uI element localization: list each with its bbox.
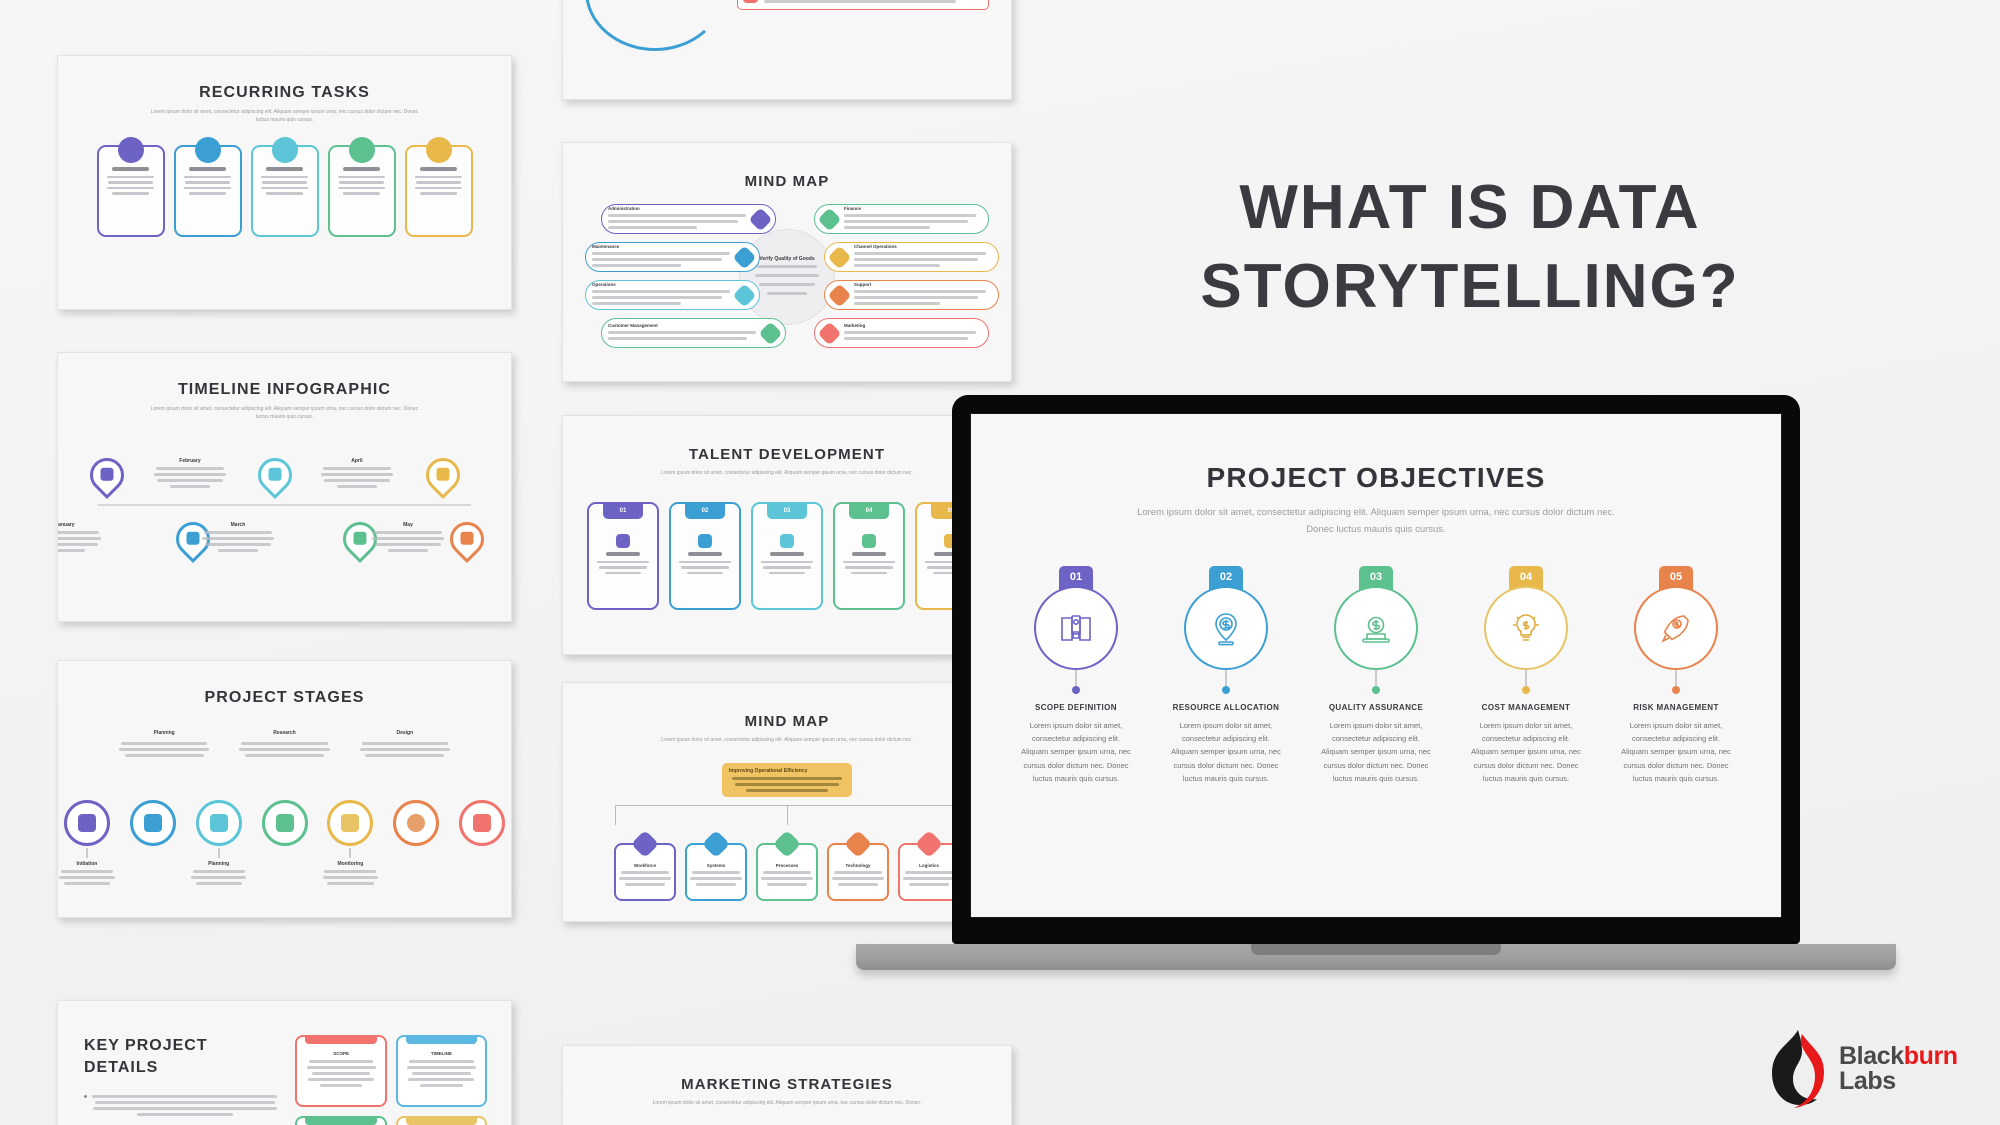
mind-map-branch[interactable]: Channel Operations: [824, 242, 999, 272]
stage-item[interactable]: [453, 800, 511, 888]
stage-item[interactable]: Initiation: [58, 800, 116, 888]
chart-icon: [862, 534, 876, 548]
task-card[interactable]: [251, 145, 319, 237]
objective-item-01[interactable]: 01 SCOPE DEFINITION Lorem ipsum dolor si…: [1012, 566, 1140, 785]
kpd-card[interactable]: TIMELINE: [396, 1035, 487, 1107]
objective-item-03[interactable]: 03 QUALITY ASSURANCE Lorem ipsum dolor s…: [1312, 566, 1440, 785]
slide-title: TALENT DEVELOPMENT: [563, 446, 1011, 463]
open-book-icon: [1034, 586, 1118, 670]
tree-node[interactable]: Systems: [685, 843, 747, 901]
objective-desc: Lorem ipsum dolor sit amet, consectetur …: [1612, 719, 1740, 785]
timeline-label-march: March: [201, 522, 275, 555]
laptop-slide-title: PROJECT OBJECTIVES: [971, 462, 1781, 494]
mind-map-branch[interactable]: Marketing: [814, 318, 989, 348]
talent-card-row: 01 02 03 04 05: [563, 502, 1011, 610]
laptop-base: [856, 944, 1896, 970]
talent-card[interactable]: 03: [751, 502, 823, 610]
slide-process-partial[interactable]: [562, 0, 1012, 100]
timeline-pin[interactable]: [419, 450, 467, 498]
laptop-screen[interactable]: PROJECT OBJECTIVES Lorem ipsum dolor sit…: [970, 413, 1782, 918]
objective-label: RISK MANAGEMENT: [1612, 703, 1740, 712]
slide-key-project-details[interactable]: KEY PROJECT DETAILS SCOPE: [57, 1000, 512, 1125]
device-icon: [195, 137, 221, 163]
stage-heading-row: Planning Research Design: [104, 721, 465, 760]
mind-map-branch[interactable]: Support: [824, 280, 999, 310]
people-icon: [426, 137, 452, 163]
tree-node[interactable]: Workforce: [614, 843, 676, 901]
mind-map-graphic: Verify Quality of Goods Administration M…: [563, 202, 1011, 352]
mind-map-branch[interactable]: Customer Management: [601, 318, 786, 348]
timeline-label-april: April: [320, 458, 394, 491]
objectives-row: 01 SCOPE DEFINITION Lorem ipsum dolor si…: [971, 566, 1781, 785]
slide-timeline-infographic[interactable]: TIMELINE INFOGRAPHIC Lorem ipsum dolor s…: [57, 352, 512, 622]
stage-item[interactable]: [387, 800, 445, 888]
headline-line-2: STORYTELLING?: [1090, 247, 1850, 326]
slide-talent-development[interactable]: TALENT DEVELOPMENT Lorem ipsum dolor sit…: [562, 415, 1012, 655]
stage-item[interactable]: [256, 800, 314, 888]
slide-title: TIMELINE INFOGRAPHIC: [58, 381, 511, 399]
mind-map-branch[interactable]: Finance: [814, 204, 989, 234]
alert-icon: [743, 0, 758, 3]
kpd-card[interactable]: BUDGET: [295, 1116, 386, 1125]
slide-title: RECURRING TASKS: [58, 84, 511, 102]
slide-project-stages[interactable]: PROJECT STAGES Planning Research Design …: [57, 660, 512, 918]
task-card[interactable]: [328, 145, 396, 237]
tree-node[interactable]: Technology: [827, 843, 889, 901]
objective-desc: Lorem ipsum dolor sit amet, consectetur …: [1462, 719, 1590, 785]
slide-title: PROJECT STAGES: [58, 689, 511, 707]
tree-root-node[interactable]: Improving Operational Efficiency: [722, 763, 852, 797]
objective-desc: Lorem ipsum dolor sit amet, consectetur …: [1012, 719, 1140, 785]
slide-recurring-tasks[interactable]: RECURRING TASKS Lorem ipsum dolor sit am…: [57, 55, 512, 310]
objective-label: SCOPE DEFINITION: [1012, 703, 1140, 712]
stage-item[interactable]: [124, 800, 182, 888]
slide-title: MIND MAP: [563, 173, 1011, 190]
stage-row: Initiation Planning Monitoring: [58, 800, 511, 888]
objective-label: RESOURCE ALLOCATION: [1162, 703, 1290, 712]
objective-desc: Lorem ipsum dolor sit amet, consectetur …: [1162, 719, 1290, 785]
talent-card[interactable]: 02: [669, 502, 741, 610]
logo-word-labs: Labs: [1839, 1069, 1958, 1095]
flame-icon: [1768, 1028, 1830, 1110]
mind-map-core: Verify Quality of Goods: [739, 229, 835, 325]
money-laptop-icon: [1334, 586, 1418, 670]
timeline-label-february: February: [153, 458, 227, 491]
objective-item-02[interactable]: 02 RESOURCE ALLOCATION Lorem ipsum dolor…: [1162, 566, 1290, 785]
slide-subtitle: Lorem ipsum dolor sit amet, consectetur …: [653, 737, 922, 745]
money-rocket-icon: [1634, 586, 1718, 670]
slide-title: MARKETING STRATEGIES: [563, 1076, 1011, 1093]
logo-word-burn: burn: [1904, 1042, 1958, 1070]
kpd-card-grid: SCOPE TIMELINE BUDGET RESOURCE: [295, 1035, 487, 1125]
task-card[interactable]: [174, 145, 242, 237]
objective-item-04[interactable]: 04 COST MANAGEMENT Lorem ipsum dolor sit…: [1462, 566, 1590, 785]
objective-label: QUALITY ASSURANCE: [1312, 703, 1440, 712]
stage-item[interactable]: Planning: [190, 800, 248, 888]
kpd-card[interactable]: RESOURCE: [396, 1116, 487, 1125]
handshake-icon: [780, 534, 794, 548]
mind-map-branch[interactable]: Maintenance: [585, 242, 760, 272]
slide-title: MIND MAP: [563, 713, 1011, 730]
document-icon: [349, 137, 375, 163]
logo-word-black: Black: [1839, 1042, 1904, 1070]
laptop-slide-subtitle: Lorem ipsum dolor sit amet, consectetur …: [1125, 504, 1627, 538]
tree-node[interactable]: Processes: [756, 843, 818, 901]
money-pin-icon: [1184, 586, 1268, 670]
logo-wordmark: Blackburn Labs: [1839, 1044, 1958, 1095]
timeline-graphic: February April January March: [58, 440, 511, 575]
timeline-label-may: May: [371, 522, 445, 555]
laptop-lid: PROJECT OBJECTIVES Lorem ipsum dolor sit…: [952, 395, 1800, 944]
tree-graphic: Improving Operational Efficiency Workfor…: [563, 755, 1011, 905]
laptop-trackpad-notch: [1251, 944, 1501, 955]
objective-item-05[interactable]: 05 RISK MANAGEMENT Lorem ipsum dolor sit…: [1612, 566, 1740, 785]
tree-node-row: Workforce Systems Processes Technology: [563, 843, 1011, 901]
objective-label: COST MANAGEMENT: [1462, 703, 1590, 712]
headline-line-1: WHAT IS DATA: [1090, 168, 1850, 247]
slide-subtitle: Lorem ipsum dolor sit amet, consectetur …: [144, 406, 425, 422]
timeline-pin[interactable]: [443, 514, 491, 562]
kpd-card[interactable]: SCOPE: [295, 1035, 386, 1107]
badge-icon: [118, 137, 144, 163]
slide-mind-map-radial[interactable]: MIND MAP Verify Quality of Goods Adminis…: [562, 142, 1012, 382]
kpd-left: KEY PROJECT DETAILS: [84, 1035, 277, 1125]
laptop-mockup: PROJECT OBJECTIVES Lorem ipsum dolor sit…: [952, 395, 1800, 970]
talent-card[interactable]: 01: [587, 502, 659, 610]
mind-map-branch[interactable]: Operations: [585, 280, 760, 310]
envelope-icon: [272, 137, 298, 163]
timeline-pin[interactable]: [83, 450, 131, 498]
slide-title: KEY PROJECT DETAILS: [84, 1035, 277, 1078]
gear-icon: [616, 534, 630, 548]
objective-desc: Lorem ipsum dolor sit amet, consectetur …: [1312, 719, 1440, 785]
slide-subtitle: Lorem ipsum dolor sit amet, consectetur …: [653, 1100, 922, 1108]
timeline-pin[interactable]: [251, 450, 299, 498]
slide-mind-map-tree[interactable]: MIND MAP Lorem ipsum dolor sit amet, con…: [562, 682, 1012, 922]
talent-card[interactable]: 04: [833, 502, 905, 610]
money-bulb-icon: [1484, 586, 1568, 670]
task-card[interactable]: [405, 145, 473, 237]
tree-node[interactable]: Logistics: [898, 843, 960, 901]
task-card-row: [58, 145, 511, 237]
slide-subtitle: Lorem ipsum dolor sit amet, consectetur …: [653, 470, 922, 478]
page-title: WHAT IS DATA STORYTELLING?: [1090, 168, 1850, 327]
kpd-bullets: [84, 1092, 277, 1125]
timeline-label-january: January: [57, 522, 102, 555]
task-card[interactable]: [97, 145, 165, 237]
slide-marketing-strategies[interactable]: MARKETING STRATEGIES Lorem ipsum dolor s…: [562, 1045, 1012, 1125]
presentation-showcase-canvas: RECURRING TASKS Lorem ipsum dolor sit am…: [0, 0, 2000, 1125]
brand-logo: Blackburn Labs: [1768, 1028, 1958, 1110]
slide-subtitle: Lorem ipsum dolor sit amet, consectetur …: [144, 109, 425, 125]
mind-map-branch[interactable]: Administration: [601, 204, 776, 234]
people-icon: [698, 534, 712, 548]
stage-item[interactable]: Monitoring: [321, 800, 379, 888]
